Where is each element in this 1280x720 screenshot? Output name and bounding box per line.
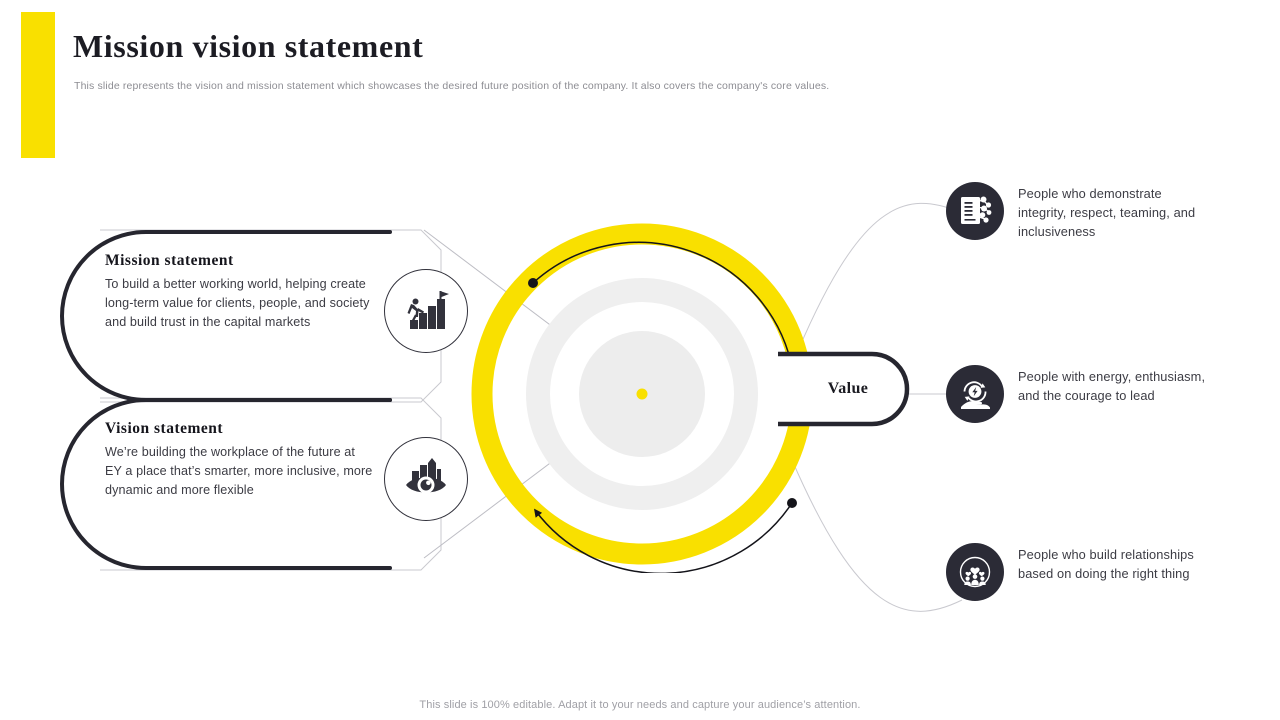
page-title: Mission vision statement xyxy=(73,28,423,65)
mission-statement-card[interactable]: Mission statement To build a better work… xyxy=(60,230,440,402)
vision-statement-card[interactable]: Vision statement We’re building the work… xyxy=(60,398,440,570)
arc-dot-top xyxy=(528,278,538,288)
page-subtitle: This slide represents the vision and mis… xyxy=(74,80,829,92)
vision-statement-title: Vision statement xyxy=(105,420,375,438)
value-badge-1 xyxy=(946,182,1004,240)
arc-dot-bottom xyxy=(787,498,797,508)
mission-icon-circle[interactable] xyxy=(384,269,468,353)
people-with-hearts-icon xyxy=(958,555,992,589)
value-item-energy[interactable]: People with energy, enthusiasm, and the … xyxy=(946,365,1213,423)
value-item-1-text: People who demonstrate integrity, respec… xyxy=(1018,182,1213,241)
hub-dot xyxy=(637,389,648,400)
mission-statement-title: Mission statement xyxy=(105,252,375,270)
value-node-label: Value xyxy=(778,351,910,427)
mission-statement-body: To build a better working world, helping… xyxy=(105,275,375,332)
value-node[interactable]: Value xyxy=(778,351,910,427)
value-item-3-text: People who build relationships based on … xyxy=(1018,543,1213,584)
value-badge-3 xyxy=(946,543,1004,601)
value-badge-2 xyxy=(946,365,1004,423)
eye-with-buildings-icon xyxy=(403,457,449,501)
footer-note: This slide is 100% editable. Adapt it to… xyxy=(0,699,1280,711)
diagram-stage: Mission statement To build a better work… xyxy=(0,160,1280,660)
vision-icon-circle[interactable] xyxy=(384,437,468,521)
value-item-2-text: People with energy, enthusiasm, and the … xyxy=(1018,365,1213,406)
document-network-icon xyxy=(958,194,992,228)
accent-bar xyxy=(21,12,55,158)
value-item-integrity[interactable]: People who demonstrate integrity, respec… xyxy=(946,182,1213,241)
value-item-relationships[interactable]: People who build relationships based on … xyxy=(946,543,1213,601)
center-target-graphic xyxy=(463,215,821,573)
hand-holding-energy-bolt-icon xyxy=(958,377,992,411)
vision-statement-body: We’re building the workplace of the futu… xyxy=(105,443,375,500)
person-climbing-bar-chart-flag-icon xyxy=(403,289,449,333)
